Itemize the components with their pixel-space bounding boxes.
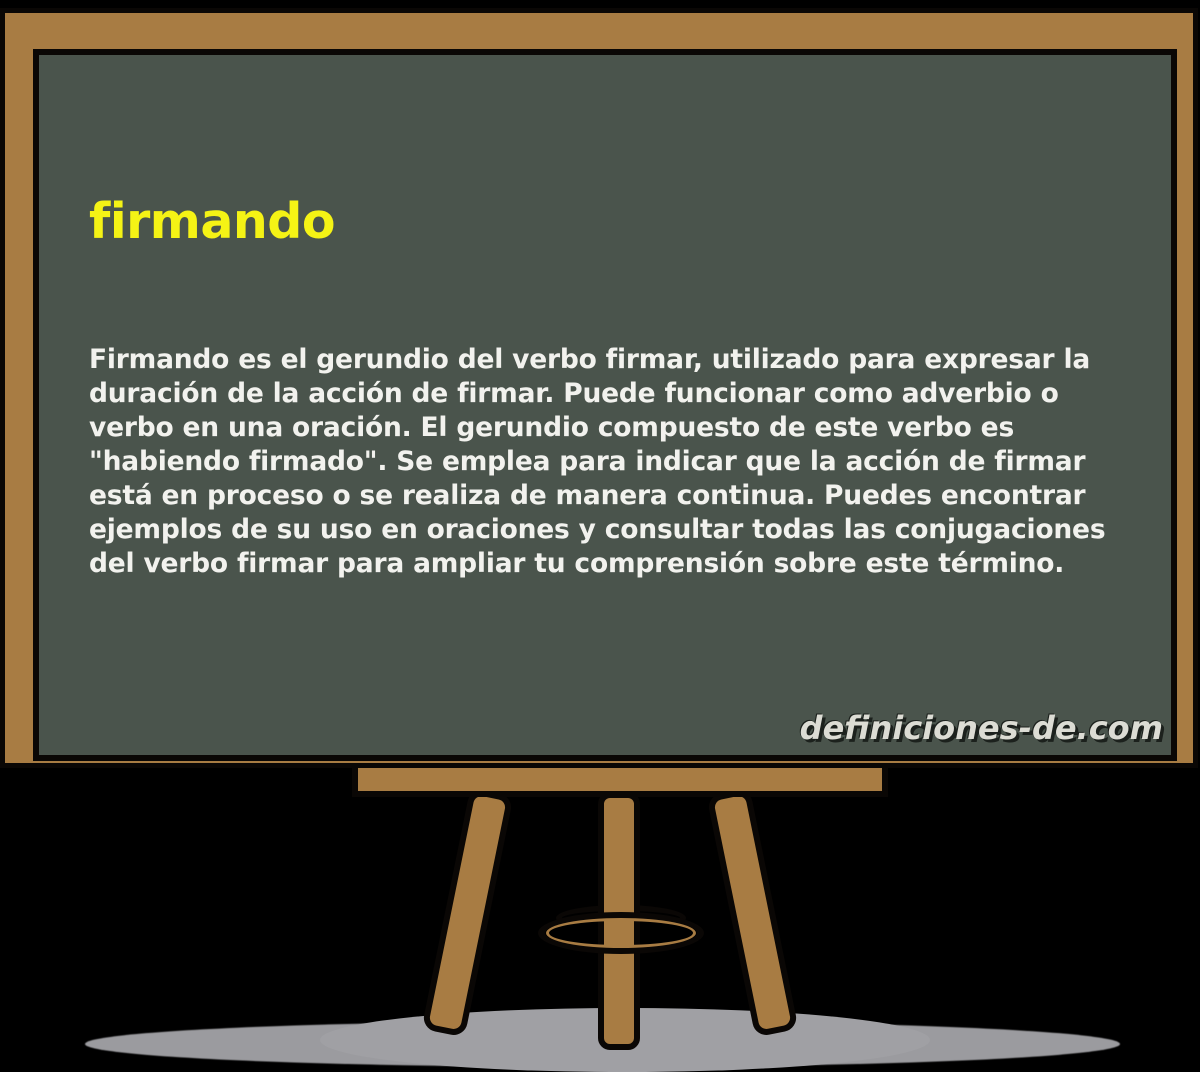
page-title: firmando [89,193,335,250]
chalkboard-scene: firmando Firmando es el gerundio del ver… [0,0,1200,1056]
board-frame: firmando Firmando es el gerundio del ver… [0,8,1198,768]
definition-text: Firmando es el gerundio del verbo firmar… [89,343,1151,581]
chalkboard-surface: firmando Firmando es el gerundio del ver… [33,49,1177,761]
site-watermark: definiciones-de.com [800,709,1163,747]
easel-ring-inner [546,918,696,948]
easel-leg-right [706,788,798,1038]
easel-leg-left [421,788,513,1038]
